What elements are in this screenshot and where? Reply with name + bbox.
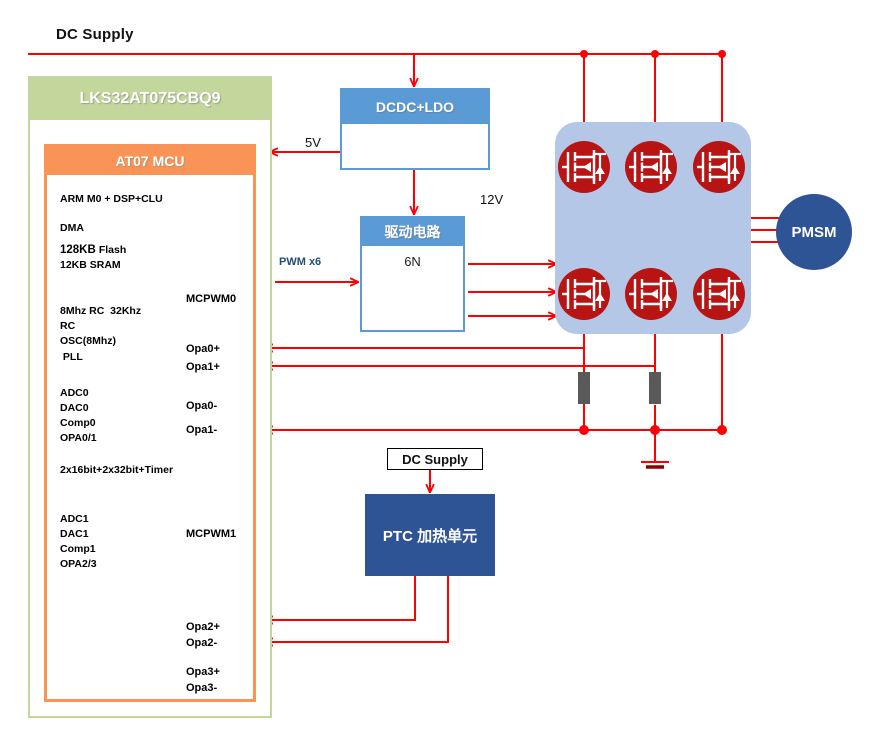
mcu-flash-size: 128KB — [60, 243, 96, 258]
label-12v: 12V — [480, 192, 503, 207]
mcu-dma-label: DMA — [60, 222, 84, 236]
mosfet-low-b — [625, 268, 677, 320]
pin-opa3-minus: Opa3- — [186, 682, 217, 694]
pin-opa2-plus: Opa2+ — [186, 621, 220, 633]
mcu-clock-line1: 8Mhz RC 32Khz — [60, 305, 141, 319]
dc-supply-title: DC Supply — [56, 26, 134, 43]
mcu-analog0-line3: Comp0 — [60, 417, 96, 431]
driver-body-label: 6N — [404, 246, 421, 269]
diagram-canvas: DC Supply LKS32AT075CBQ9 AT07 MCU ARM M0… — [0, 0, 884, 746]
ptc-heating-label: PTC 加热单元 — [383, 525, 477, 546]
pmsm-motor: PMSM — [776, 194, 852, 270]
mosfet-low-a — [558, 268, 610, 320]
label-5v: 5V — [305, 135, 321, 150]
mcu-sram-label: 12KB SRAM — [60, 259, 121, 273]
mcu-analog1-line4: OPA2/3 — [60, 558, 97, 572]
mcu-clock-line4: PLL — [60, 351, 83, 365]
mcu-header-label: AT07 MCU — [47, 147, 253, 175]
ptc-dc-supply-box: DC Supply — [387, 448, 483, 470]
mcu-analog1-line2: DAC1 — [60, 528, 89, 542]
mcu-flash-unit: Flash — [99, 244, 126, 258]
pin-opa0-plus: Opa0+ — [186, 343, 220, 355]
pmsm-label: PMSM — [792, 224, 837, 241]
ground-symbol — [641, 462, 669, 467]
wire-ptc-opa2p — [265, 576, 415, 620]
ptc-dc-supply-label: DC Supply — [402, 452, 468, 467]
driver-block: 驱动电路 6N — [360, 216, 465, 332]
mcu-analog0-line1: ADC0 — [60, 387, 89, 401]
mcu-analog0-line2: DAC0 — [60, 402, 89, 416]
mcu-analog1-line3: Comp1 — [60, 543, 96, 557]
label-pwm-x6: PWM x6 — [279, 256, 321, 268]
mosfet-high-a — [558, 141, 610, 193]
pin-opa1-plus: Opa1+ — [186, 361, 220, 373]
driver-header-label: 驱动电路 — [362, 218, 463, 246]
shunt-resistor-b — [649, 372, 661, 404]
pin-mcpwm1: MCPWM1 — [186, 528, 236, 540]
pin-opa1-minus: Opa1- — [186, 424, 217, 436]
shunt-resistor-a — [578, 372, 590, 404]
mcu-clock-line2: RC — [60, 320, 75, 334]
mcu-analog0-line4: OPA0/1 — [60, 432, 97, 446]
pin-opa3-plus: Opa3+ — [186, 666, 220, 678]
mcu-core-label: ARM M0 + DSP+CLU — [60, 193, 163, 207]
wire-ptc-opa2n — [265, 576, 448, 642]
dcdc-header-label: DCDC+LDO — [342, 90, 488, 124]
mcu-flash-row: 128KB Flash — [60, 243, 126, 258]
mosfet-high-b — [625, 141, 677, 193]
pin-opa2-minus: Opa2- — [186, 637, 217, 649]
pin-mcpwm0: MCPWM0 — [186, 293, 236, 305]
dcdc-block: DCDC+LDO — [340, 88, 490, 170]
mosfet-low-c — [693, 268, 745, 320]
chip-header-label: LKS32AT075CBQ9 — [30, 78, 270, 120]
ptc-heating-block: PTC 加热单元 — [365, 494, 495, 576]
mosfet-high-c — [693, 141, 745, 193]
pin-opa0-minus: Opa0- — [186, 400, 217, 412]
mosfet-array — [555, 122, 751, 334]
mcu-timers-label: 2x16bit+2x32bit+Timer — [60, 464, 173, 478]
mcu-analog1-line1: ADC1 — [60, 513, 89, 527]
mcu-clock-line3: OSC(8Mhz) — [60, 335, 116, 349]
